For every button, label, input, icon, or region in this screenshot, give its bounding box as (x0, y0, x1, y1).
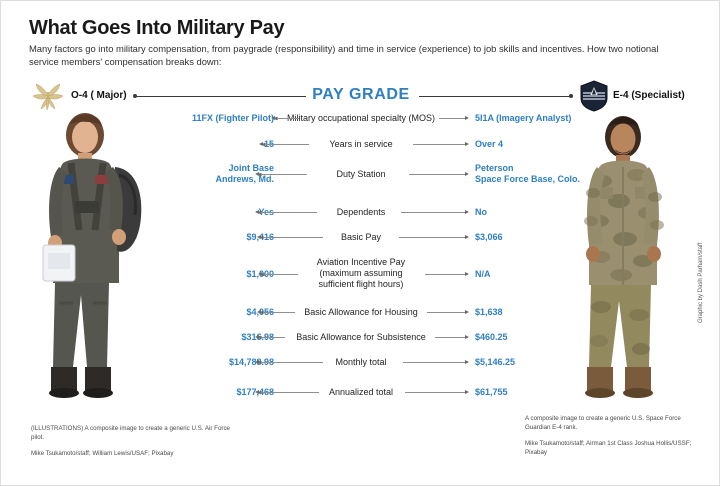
arrow-left-icon (259, 142, 263, 146)
connector-line-left (263, 312, 295, 313)
right-rank-label: E-4 (Specialist) (613, 90, 685, 101)
arrow-left-icon (255, 390, 259, 394)
connector-line-left (263, 237, 323, 238)
us-space-force-guardian-photo (557, 109, 697, 405)
arrow-left-icon (258, 272, 262, 276)
connector-line-right (405, 392, 465, 393)
graphic-credit: Graphic by Dash Parham/staff (698, 243, 704, 323)
connector-line-right (427, 312, 465, 313)
right-photo-source: Mike Tsukamoto/staff; Airman 1st Class J… (525, 440, 705, 457)
right-photo-caption: A composite image to create a generic U.… (525, 415, 705, 432)
connector-line-left (261, 337, 285, 338)
row-value-right: No (475, 207, 487, 218)
row-value-right: Peterson Space Force Base, Colo. (475, 163, 580, 185)
left-photo-credit: (ILLUSTRATIONS) A composite image to cre… (31, 425, 241, 459)
connector-line-left (277, 118, 299, 119)
arrow-left-icon (255, 360, 259, 364)
arrow-right-icon (465, 116, 469, 120)
connector-line-right (435, 337, 465, 338)
paygrade-rule-right (419, 96, 571, 97)
arrow-right-icon (465, 390, 469, 394)
row-value-right: $1,638 (475, 307, 503, 318)
row-value-right: $61,755 (475, 387, 508, 398)
right-photo-credit: A composite image to create a generic U.… (525, 415, 705, 457)
arrow-right-icon (465, 210, 469, 214)
arrow-right-icon (465, 360, 469, 364)
connector-line-left (264, 274, 298, 275)
row-value-right: $5,146.25 (475, 357, 515, 368)
arrow-right-icon (465, 272, 469, 276)
connector-line-right (399, 237, 465, 238)
connector-line-right (439, 118, 465, 119)
page-title: What Goes Into Military Pay (29, 17, 284, 40)
connector-line-left (261, 362, 323, 363)
arrow-left-icon (255, 210, 259, 214)
infographic-canvas: What Goes Into Military Pay Many factors… (0, 0, 720, 486)
arrow-right-icon (465, 335, 469, 339)
arrow-right-icon (465, 310, 469, 314)
row-label: Basic Allowance for Subsistence (261, 332, 461, 343)
left-photo-source: Mike Tsukamoto/staff; William Lewis/USAF… (31, 450, 241, 459)
connector-line-right (413, 144, 465, 145)
arrow-left-icon (257, 235, 261, 239)
connector-line-right (403, 362, 465, 363)
connector-line-left (265, 144, 309, 145)
arrow-right-icon (465, 235, 469, 239)
connector-line-left (261, 392, 319, 393)
row-value-right: N/A (475, 269, 491, 280)
row-value-right: Over 4 (475, 139, 503, 150)
row-value-right: $460.25 (475, 332, 508, 343)
connector-line-right (409, 174, 465, 175)
connector-line-left (261, 212, 317, 213)
arrow-left-icon (255, 172, 259, 176)
left-photo-caption: (ILLUSTRATIONS) A composite image to cre… (31, 425, 241, 442)
row-value-right: $3,066 (475, 232, 503, 243)
row-value-right: 5I1A (Imagery Analyst) (475, 113, 571, 124)
connector-line-right (425, 274, 465, 275)
space-force-specialist-4-insignia-icon (579, 80, 609, 112)
arrow-right-icon (465, 172, 469, 176)
connector-line-right (401, 212, 465, 213)
connector-dot-right (569, 94, 573, 98)
us-air-force-pilot-photo (23, 105, 168, 405)
page-deck: Many factors go into military compensati… (29, 43, 689, 68)
arrow-left-icon (255, 335, 259, 339)
arrow-left-icon (271, 116, 275, 120)
arrow-left-icon (257, 310, 261, 314)
connector-line-left (261, 174, 307, 175)
arrow-right-icon (465, 142, 469, 146)
